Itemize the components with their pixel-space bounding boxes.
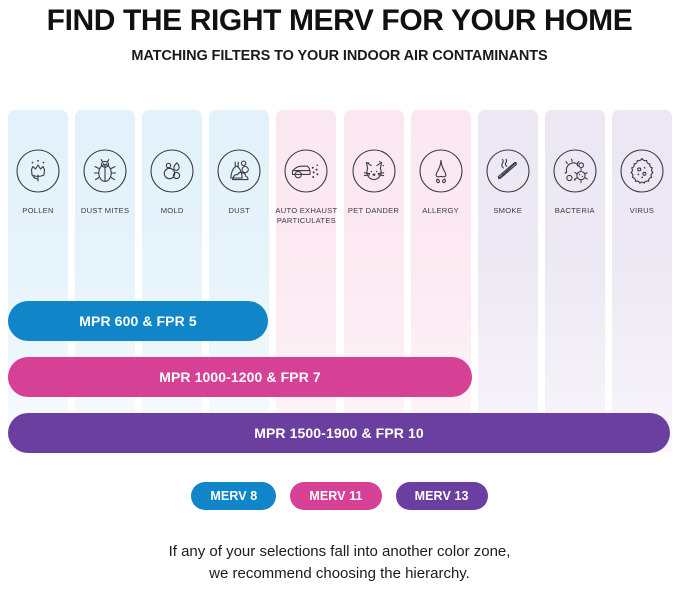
mpr-bar-merv8: MPR 600 & FPR 5 <box>8 301 268 341</box>
bacteria-icon <box>552 148 598 194</box>
pollen-flower-icon <box>15 148 61 194</box>
contaminant-label: VIRUS <box>598 206 679 216</box>
mold-spores-icon <box>149 148 195 194</box>
contaminant-column-bacteria: BACTERIA <box>545 110 605 452</box>
smoke-no-cigarette-icon <box>485 148 531 194</box>
pet-dander-cat-icon <box>351 148 397 194</box>
infographic-root: FIND THE RIGHT MERV FOR YOUR HOME MATCHI… <box>0 0 679 589</box>
contaminant-column-auto-exhaust-particulates: AUTO EXHAUST PARTICULATES <box>276 110 336 452</box>
dust-particles-icon <box>216 148 262 194</box>
allergy-nose-icon <box>418 148 464 194</box>
contaminant-column-dust-mites: DUST MITES <box>75 110 135 452</box>
footer-note: If any of your selections fall into anot… <box>0 541 679 585</box>
contaminant-column-dust: DUST <box>209 110 269 452</box>
mpr-bar-merv11: MPR 1000-1200 & FPR 7 <box>8 357 472 397</box>
merv-pill-merv-11[interactable]: MERV 11 <box>290 482 381 510</box>
page-subtitle: MATCHING FILTERS TO YOUR INDOOR AIR CONT… <box>0 47 679 65</box>
merv-legend: MERV 8MERV 11MERV 13 <box>0 482 679 510</box>
merv-pill-merv-13[interactable]: MERV 13 <box>396 482 488 510</box>
page-title: FIND THE RIGHT MERV FOR YOUR HOME <box>0 4 679 38</box>
auto-exhaust-car-icon <box>283 148 329 194</box>
mpr-bar-merv13: MPR 1500-1900 & FPR 10 <box>8 413 670 453</box>
contaminant-column-pollen: POLLEN <box>8 110 68 452</box>
virus-icon <box>619 148 665 194</box>
contaminant-column-pet-dander: PET DANDER <box>344 110 404 452</box>
contaminant-column-smoke: SMOKE <box>478 110 538 452</box>
dust-mite-bug-icon <box>82 148 128 194</box>
merv-pill-merv-8[interactable]: MERV 8 <box>191 482 276 510</box>
contaminant-column-mold: MOLD <box>142 110 202 452</box>
contaminant-column-virus: VIRUS <box>612 110 672 452</box>
contaminant-columns: POLLENDUST MITESMOLDDUSTAUTO EXHAUST PAR… <box>0 110 679 452</box>
contaminant-column-allergy: ALLERGY <box>411 110 471 452</box>
